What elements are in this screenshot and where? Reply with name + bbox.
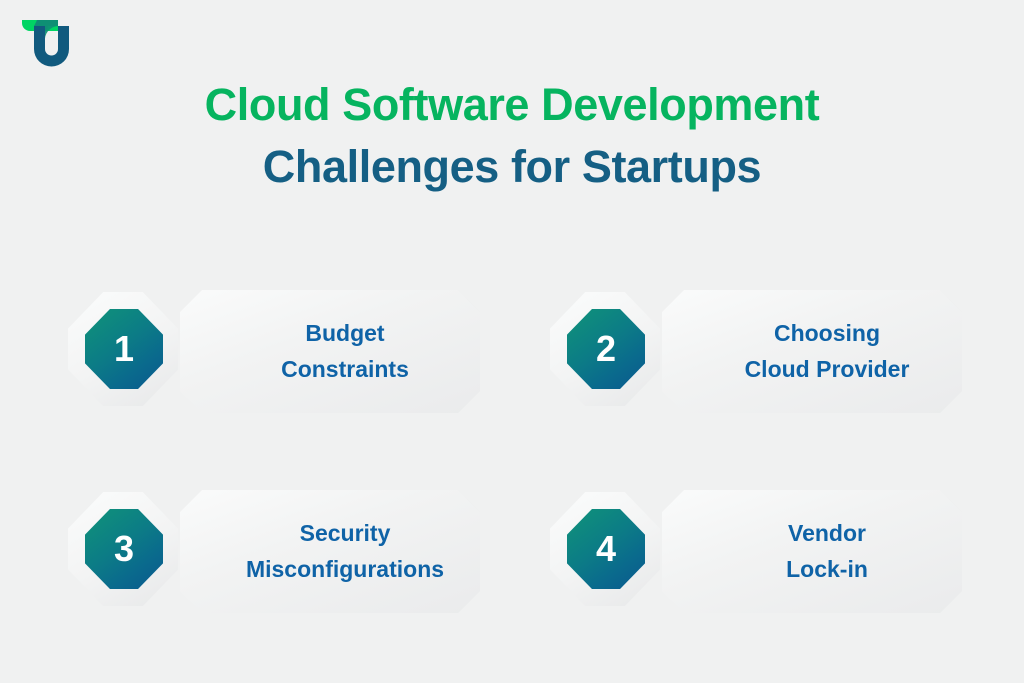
challenge-label: Security Misconfigurations (216, 516, 444, 587)
challenge-card-panel: Choosing Cloud Provider (662, 290, 962, 413)
challenge-label: Vendor Lock-in (756, 516, 868, 587)
challenge-label: Choosing Cloud Provider (715, 316, 910, 387)
challenge-card-4[interactable]: Vendor Lock-in 4 (550, 490, 962, 615)
challenge-card-inner: Vendor Lock-in (662, 490, 962, 613)
challenge-number: 4 (596, 531, 616, 567)
challenge-card-inner: Choosing Cloud Provider (662, 290, 962, 413)
tu-logo-mark (20, 17, 76, 69)
challenges-grid: Budget Constraints 1 Choosing Cloud Prov… (0, 290, 1024, 620)
challenge-number: 2 (596, 331, 616, 367)
challenge-card-panel: Security Misconfigurations (180, 490, 480, 613)
challenge-card-inner: Budget Constraints (180, 290, 480, 413)
title-line-2: Challenges for Startups (0, 144, 1024, 189)
challenge-card-panel: Vendor Lock-in (662, 490, 962, 613)
challenge-label: Budget Constraints (251, 316, 409, 387)
challenge-number: 1 (114, 331, 134, 367)
tu-logo (20, 17, 76, 69)
challenge-number: 3 (114, 531, 134, 567)
challenge-card-1[interactable]: Budget Constraints 1 (68, 290, 480, 415)
challenge-card-2[interactable]: Choosing Cloud Provider 2 (550, 290, 962, 415)
challenge-card-3[interactable]: Security Misconfigurations 3 (68, 490, 480, 615)
challenge-card-panel: Budget Constraints (180, 290, 480, 413)
page-title: Cloud Software Development Challenges fo… (0, 82, 1024, 189)
title-line-1: Cloud Software Development (0, 82, 1024, 127)
challenge-card-inner: Security Misconfigurations (180, 490, 480, 613)
